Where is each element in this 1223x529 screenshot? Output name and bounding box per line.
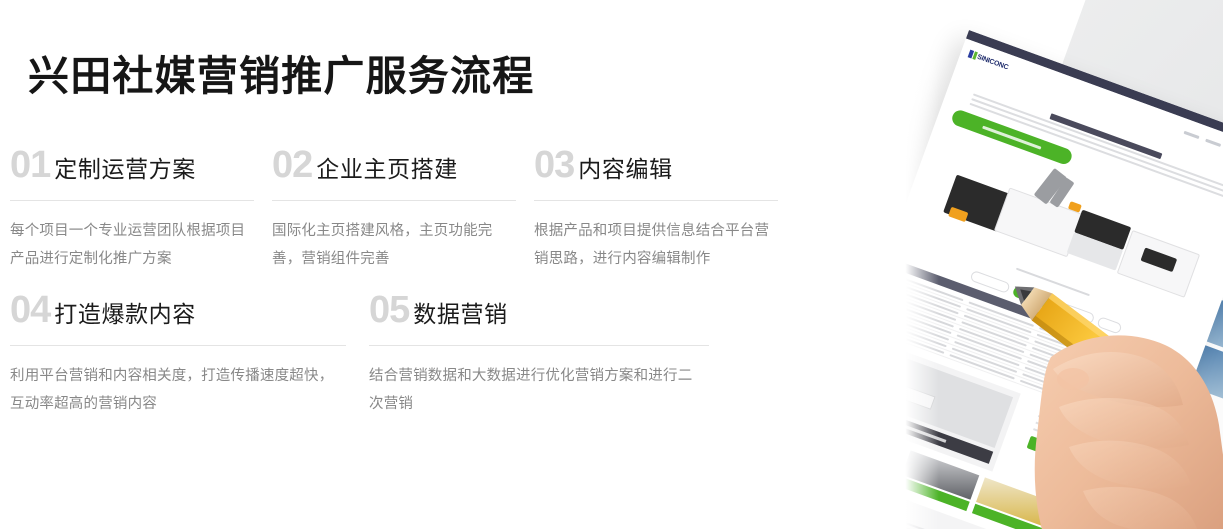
mockup-tab — [1096, 316, 1122, 335]
step-number: 05 — [369, 291, 409, 329]
step-divider — [10, 200, 254, 201]
step-number: 01 — [10, 146, 50, 184]
visual-fade-overlay — [883, 0, 939, 529]
step-row-first: 01 定制运营方案 每个项目一个专业运营团队根据项目产品进行定制化推广方案 02… — [0, 146, 786, 273]
step-item-05[interactable]: 05 数据营销 结合营销数据和大数据进行优化营销方案和进行二次营销 — [357, 291, 717, 418]
step-title: 数据营销 — [413, 303, 507, 326]
step-number: 02 — [272, 146, 312, 184]
step-divider — [10, 345, 346, 346]
step-header: 01 定制运营方案 — [10, 146, 244, 190]
step-divider — [272, 200, 516, 201]
step-description: 利用平台营销和内容相关度，打造传播速度超快，互动率超高的营销内容 — [10, 362, 342, 418]
mockup-logo-text: SINICONC — [976, 53, 1009, 71]
step-divider — [534, 200, 778, 201]
content-area: 兴田社媒营销推广服务流程 01 定制运营方案 每个项目一个专业运营团队根据项目产… — [0, 0, 830, 529]
step-description: 国际化主页搭建风格，主页功能完善，营销组件完善 — [272, 217, 518, 273]
step-number: 04 — [10, 291, 50, 329]
mockup-nav-item — [1205, 138, 1221, 146]
step-description: 根据产品和项目提供信息结合平台营销思路，进行内容编辑制作 — [534, 217, 780, 273]
step-divider — [369, 345, 709, 346]
page-root: SINICONC — [0, 0, 1223, 529]
step-title: 企业主页搭建 — [316, 158, 458, 181]
page-title: 兴田社媒营销推广服务流程 — [28, 52, 534, 100]
mockup-nav-item — [1184, 130, 1200, 138]
step-row-second: 04 打造爆款内容 利用平台营销和内容相关度，打造传播速度超快，互动率超高的营销… — [0, 291, 717, 418]
step-item-01[interactable]: 01 定制运营方案 每个项目一个专业运营团队根据项目产品进行定制化推广方案 — [0, 146, 262, 273]
step-item-03[interactable]: 03 内容编辑 根据产品和项目提供信息结合平台营销思路，进行内容编辑制作 — [524, 146, 786, 273]
hero-visual: SINICONC — [883, 0, 1223, 529]
step-header: 04 打造爆款内容 — [10, 291, 335, 335]
step-header: 05 数据营销 — [369, 291, 695, 335]
mockup-brand-logo: SINICONC — [968, 50, 1010, 72]
step-description: 每个项目一个专业运营团队根据项目产品进行定制化推广方案 — [10, 217, 256, 273]
step-item-04[interactable]: 04 打造爆款内容 利用平台营销和内容相关度，打造传播速度超快，互动率超高的营销… — [0, 291, 357, 418]
step-header: 03 内容编辑 — [534, 146, 768, 190]
step-title: 定制运营方案 — [54, 158, 196, 181]
step-number: 03 — [534, 146, 574, 184]
step-title: 内容编辑 — [578, 158, 672, 181]
step-description: 结合营销数据和大数据进行优化营销方案和进行二次营销 — [369, 362, 705, 418]
step-title: 打造爆款内容 — [54, 303, 196, 326]
step-header: 02 企业主页搭建 — [272, 146, 506, 190]
step-item-02[interactable]: 02 企业主页搭建 国际化主页搭建风格，主页功能完善，营销组件完善 — [262, 146, 524, 273]
